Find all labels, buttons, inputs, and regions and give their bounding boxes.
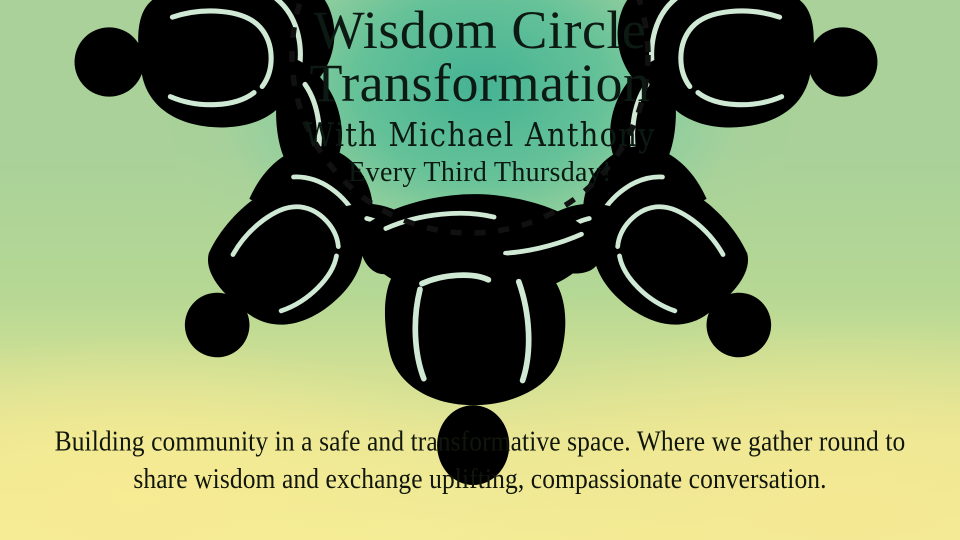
poster-canvas: Wisdom Circle Transformation With Michae… (0, 0, 960, 540)
seated-figure-bottom-center (360, 194, 601, 485)
dashed-circle-outline (290, 0, 650, 235)
